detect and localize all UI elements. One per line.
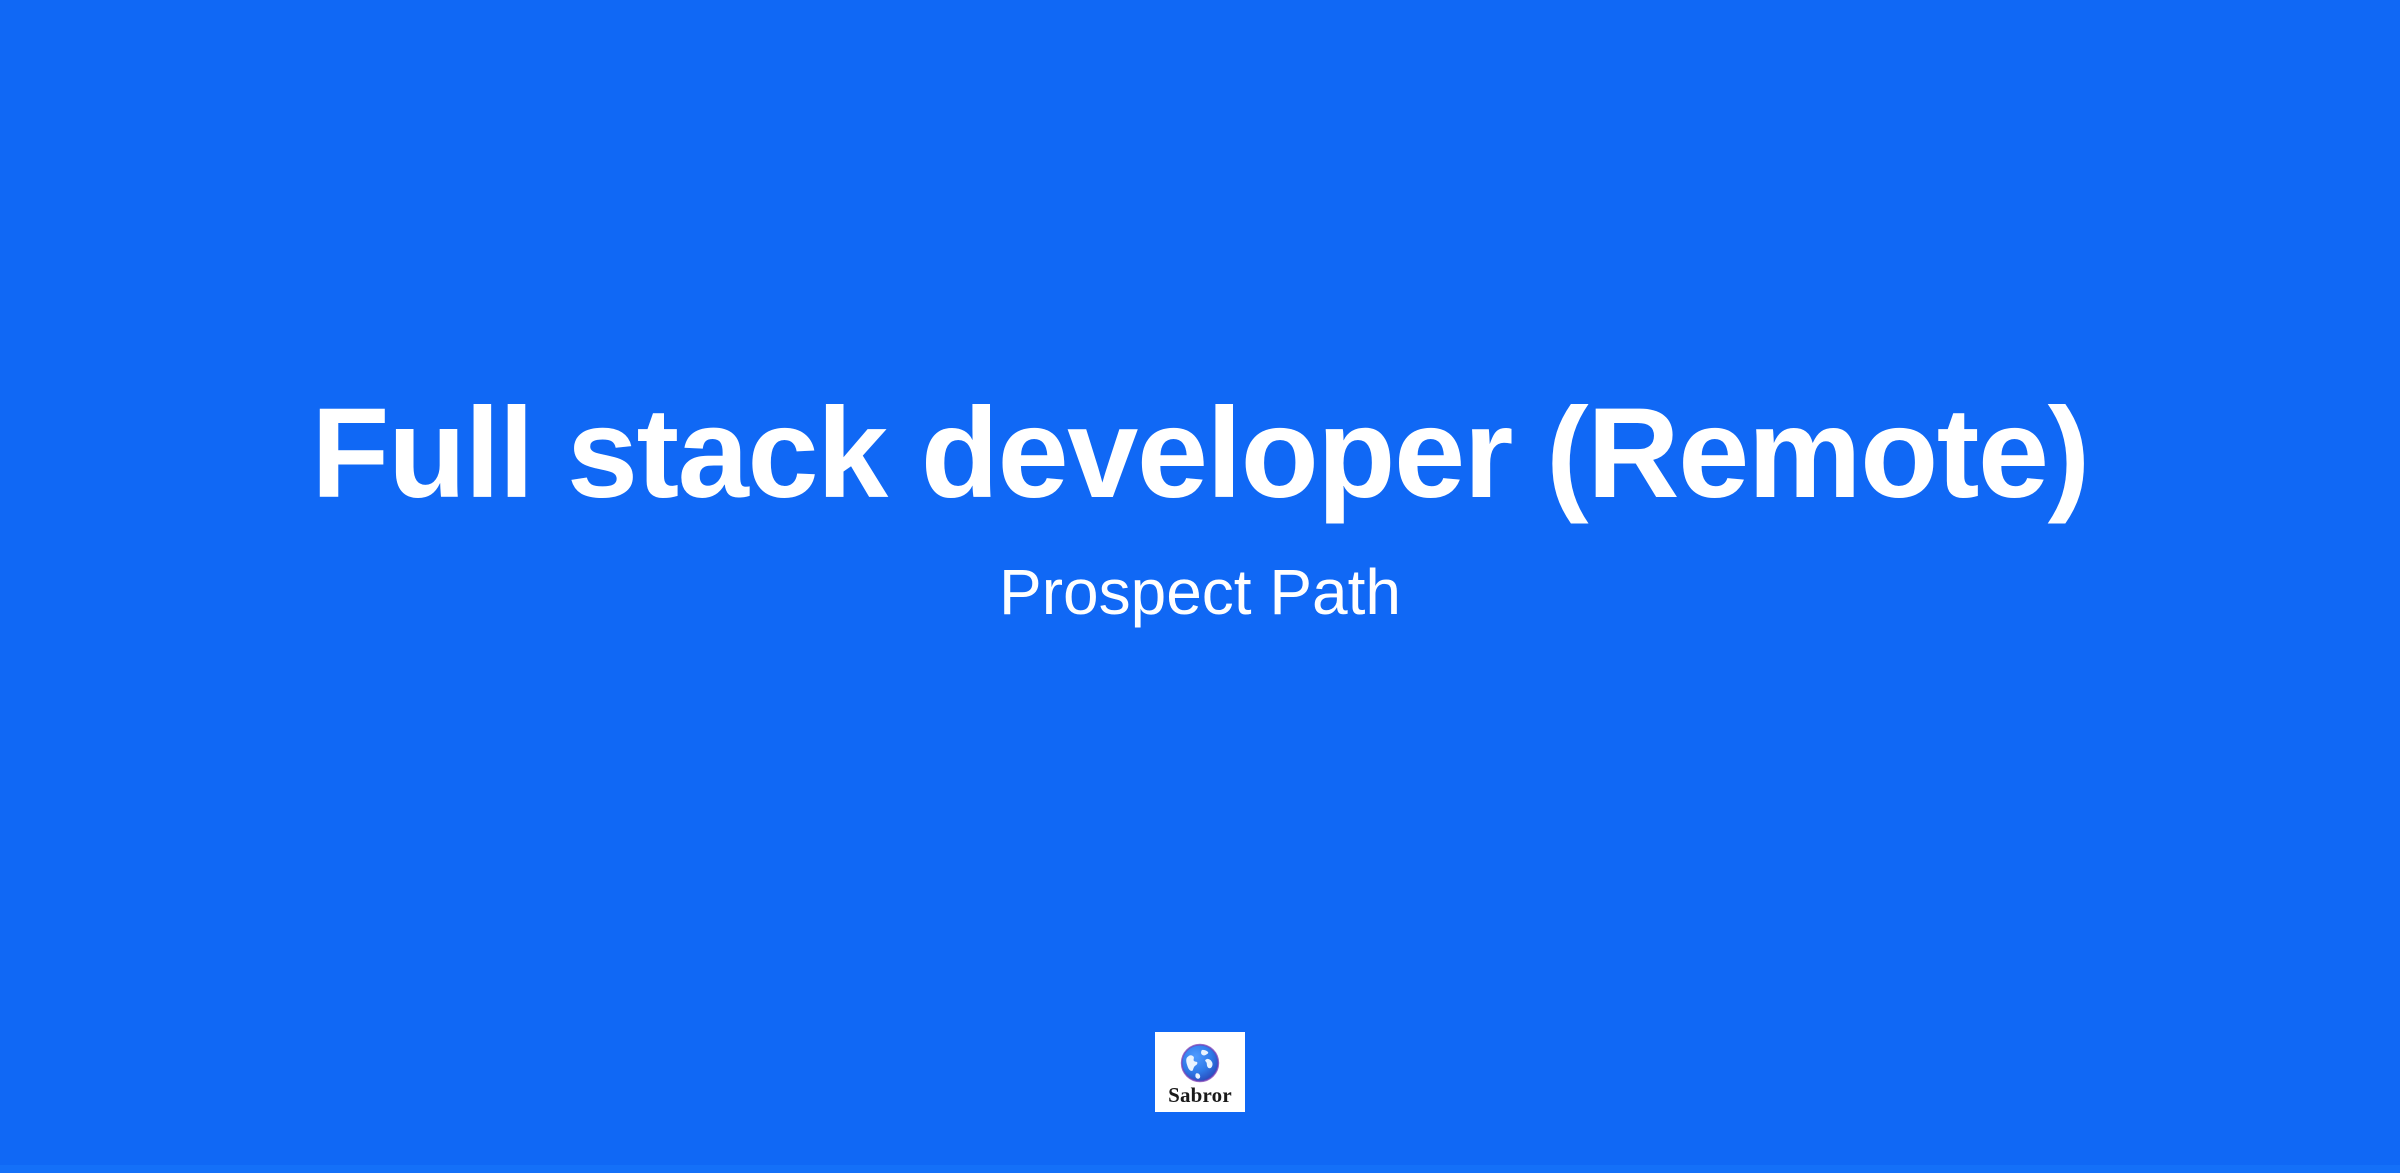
slide-subtitle: Prospect Path — [0, 560, 2400, 624]
brand-name-label: Sabror — [1168, 1085, 1232, 1106]
slide-title-block: Full stack developer (Remote) Prospect P… — [0, 390, 2400, 624]
brand-logo-badge: Sabror — [1155, 1032, 1245, 1112]
bottom-edge-band — [0, 1165, 2400, 1173]
globe-icon — [1179, 1042, 1221, 1084]
presentation-slide: Full stack developer (Remote) Prospect P… — [0, 0, 2400, 1173]
page-title: Full stack developer (Remote) — [0, 390, 2400, 518]
